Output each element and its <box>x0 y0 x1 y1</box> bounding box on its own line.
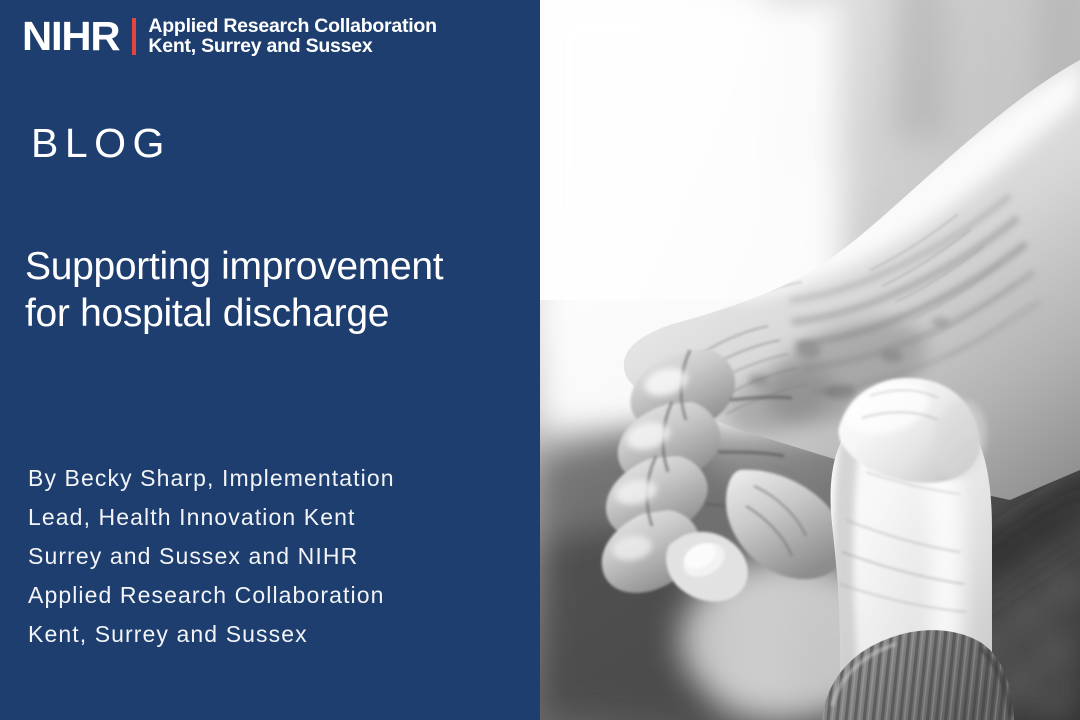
byline-line-5: Kent, Surrey and Sussex <box>28 615 528 654</box>
byline-line-3: Surrey and Sussex and NIHR <box>28 537 528 576</box>
page-title: Supporting improvement for hospital disc… <box>25 243 520 337</box>
logo-subtitle-line-2: Kent, Surrey and Sussex <box>148 36 436 57</box>
blog-promo-card: NIHR Applied Research Collaboration Kent… <box>0 0 1080 720</box>
nihr-arc-logo: NIHR Applied Research Collaboration Kent… <box>22 14 437 58</box>
logo-red-divider-icon <box>132 18 136 55</box>
left-blue-panel: NIHR Applied Research Collaboration Kent… <box>0 0 540 720</box>
byline-line-4: Applied Research Collaboration <box>28 576 528 615</box>
hero-photograph <box>540 0 1080 720</box>
nihr-wordmark: NIHR <box>22 16 119 57</box>
category-eyebrow: BLOG <box>31 120 171 166</box>
byline-line-1: By Becky Sharp, Implementation <box>28 459 528 498</box>
logo-subtitle-line-1: Applied Research Collaboration <box>148 16 436 37</box>
logo-subtitle-block: Applied Research Collaboration Kent, Sur… <box>148 16 436 57</box>
hands-photo-illustration <box>540 0 1080 720</box>
byline-line-2: Lead, Health Innovation Kent <box>28 498 528 537</box>
author-byline: By Becky Sharp, Implementation Lead, Hea… <box>28 459 528 654</box>
headline-line-1: Supporting improvement <box>25 245 443 288</box>
headline-line-2: for hospital discharge <box>25 292 389 335</box>
